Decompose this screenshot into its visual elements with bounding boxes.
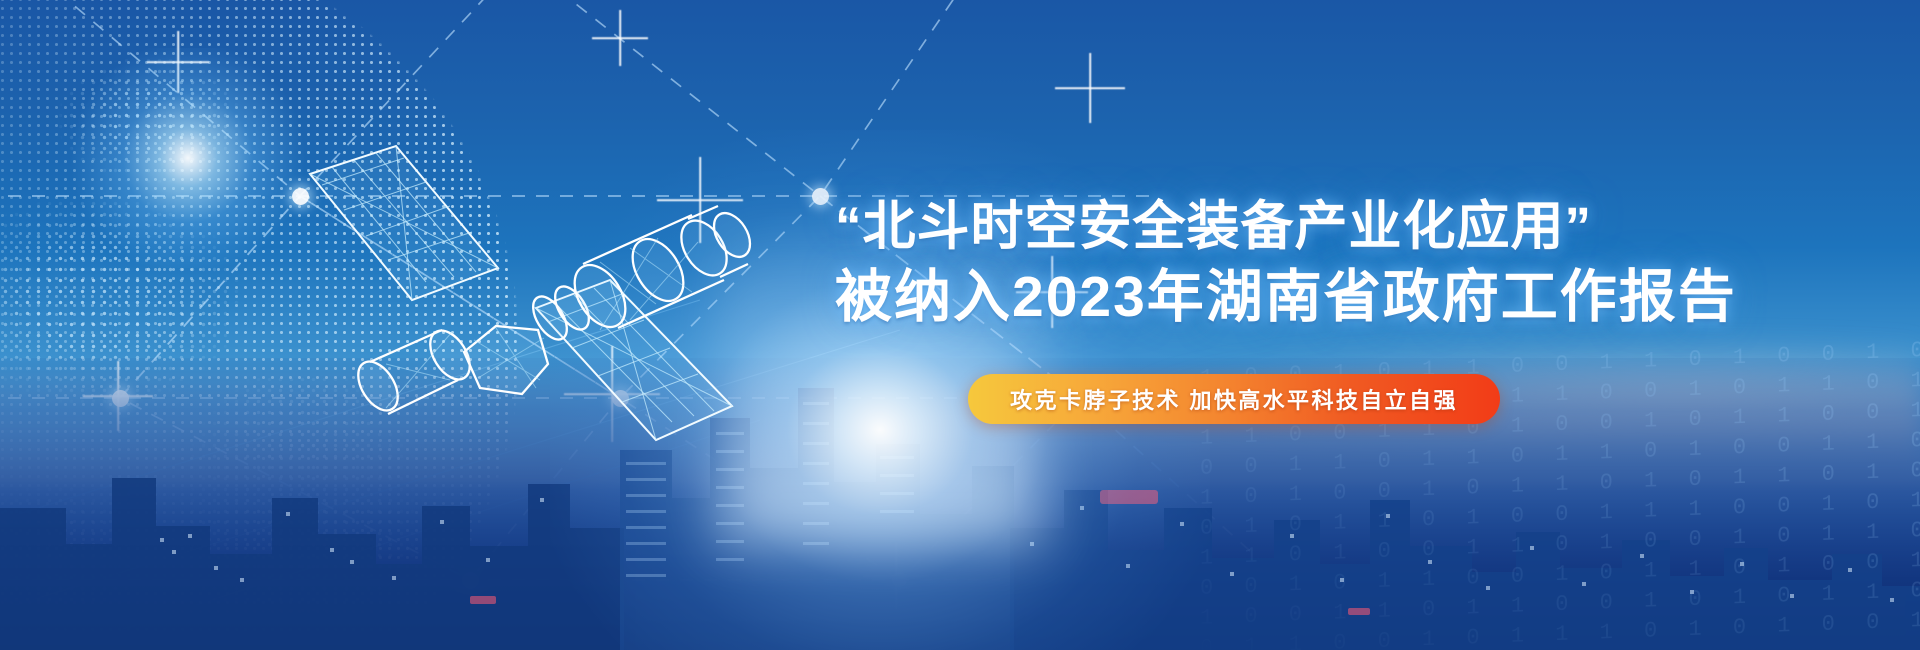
headline-line-1: “北斗时空安全装备产业化应用” [835,196,1535,257]
banner-root: 1 0 0 1 0 1 1 0 0 1 1 0 1 0 0 1 0 1 1 0 … [0,0,1920,650]
slogan-pill-button[interactable]: 攻克卡脖子技术 加快高水平科技自立自强 [968,374,1500,424]
headline-block: “北斗时空安全装备产业化应用” 被纳入2023年湖南省政府工作报告 [835,196,1535,331]
satellite-wireframe-icon [300,130,780,460]
headline-line-2: 被纳入2023年湖南省政府工作报告 [835,264,1535,330]
slogan-pill-label: 攻克卡脖子技术 加快高水平科技自立自强 [1010,383,1458,415]
